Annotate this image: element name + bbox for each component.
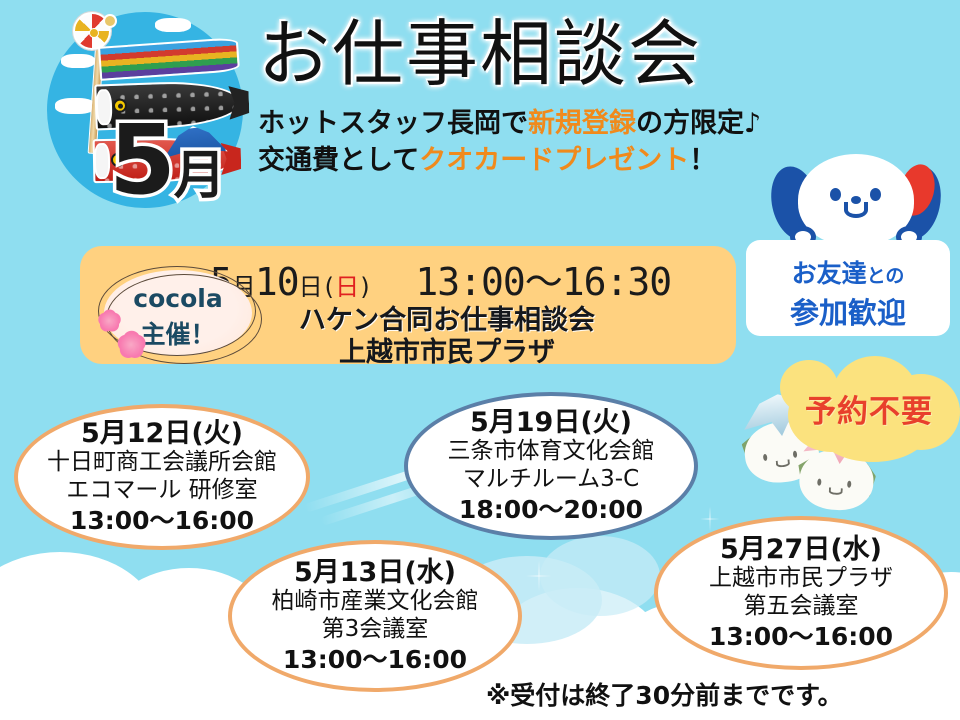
poster-root: 5月 お仕事相談会 ホットスタッフ長岡で新規登録の方限定♪ 交通費としてクオカー…: [0, 0, 960, 720]
event-time: 13:00〜16:00: [70, 507, 254, 536]
cloud-icon: [55, 98, 95, 114]
logo-month-label: 5月: [109, 112, 224, 208]
sparkle-icon: [700, 506, 720, 532]
no-reservation-badge: 予約不要: [778, 352, 960, 466]
event-time: 13:00〜16:00: [283, 646, 467, 675]
sparkle-icon: [526, 560, 552, 592]
friends-welcome-line-2: 参加歓迎: [746, 290, 950, 332]
sakura-icon: [114, 328, 148, 362]
event-oval-3[interactable]: 5月19日(火) 三条市体育文化会館 マルチルーム3-C 18:00〜20:00: [404, 392, 698, 540]
event-venue: 三条市体育文化会館: [448, 437, 655, 465]
cloud-icon: [61, 54, 95, 68]
event-venue: 柏崎市産業文化会館: [272, 587, 479, 615]
friends-welcome-card: お友達との 参加歓迎: [746, 240, 950, 336]
event-date: 5月12日(火): [81, 419, 243, 449]
no-reservation-label: 予約不要: [778, 386, 960, 431]
event-venue: 上越市市民プラザ: [709, 564, 893, 592]
event-oval-4[interactable]: 5月27日(水) 上越市市民プラザ 第五会議室 13:00〜16:00: [654, 516, 948, 670]
reception-note: ※受付は終了30分前までです。: [486, 676, 843, 712]
subtitle-line-2: 交通費としてクオカードプレゼント！: [258, 142, 778, 179]
event-date: 5月19日(火): [470, 408, 632, 438]
seal-mascot-icon: [772, 152, 940, 252]
cloud-icon: [155, 18, 191, 32]
event-venue: 十日町商工会議所会館: [47, 448, 277, 476]
event-room: マルチルーム3-C: [463, 465, 639, 493]
event-date: 5月13日(水): [294, 558, 456, 588]
event-time: 13:00〜16:00: [709, 623, 893, 652]
page-title: お仕事相談会: [258, 14, 778, 95]
featured-event-banner: 5月10日(日) 13:00〜16:30 ハケン合同お仕事相談会 上越市市民プラ…: [80, 246, 736, 364]
event-room: 第3会議室: [322, 615, 429, 643]
may-koinobori-logo: 5月: [35, 6, 253, 218]
pole-knob: [103, 14, 117, 28]
subtitle-line-1: ホットスタッフ長岡で新規登録の方限定♪: [258, 105, 778, 142]
event-time: 18:00〜20:00: [459, 496, 643, 525]
cloud-icon: [0, 552, 160, 702]
cocola-name: cocola: [104, 284, 252, 313]
friends-welcome-line-1: お友達との: [746, 254, 950, 290]
headline-block: お仕事相談会 ホットスタッフ長岡で新規登録の方限定♪ 交通費としてクオカードプレ…: [258, 14, 778, 179]
event-date: 5月27日(水): [720, 535, 882, 565]
event-oval-1[interactable]: 5月12日(火) 十日町商工会議所会館 エコマール 研修室 13:00〜16:0…: [14, 404, 310, 550]
event-room: エコマール 研修室: [66, 476, 257, 504]
event-oval-2[interactable]: 5月13日(水) 柏崎市産業文化会館 第3会議室 13:00〜16:00: [228, 540, 522, 692]
cloud-icon: [540, 536, 660, 616]
event-room: 第五会議室: [744, 592, 859, 620]
cocola-host-badge: cocola 主催！: [104, 270, 252, 356]
